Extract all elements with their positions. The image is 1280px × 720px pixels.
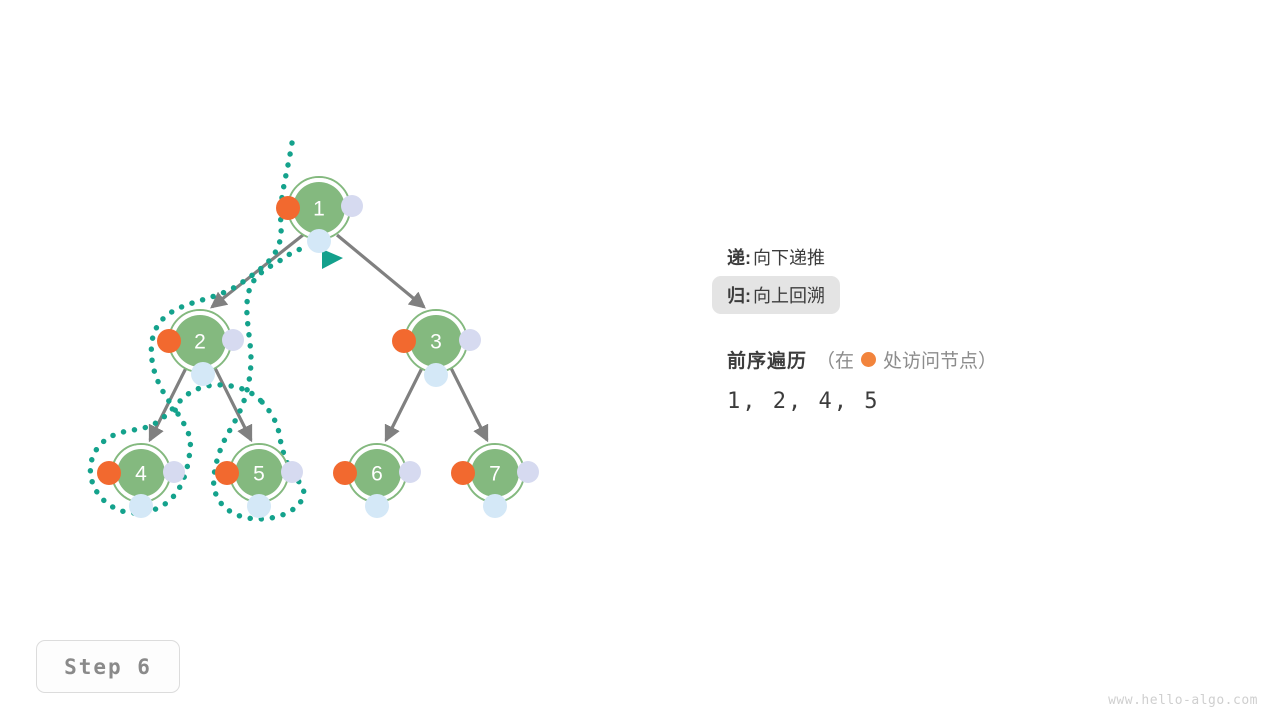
path-segment-node4-loop bbox=[90, 385, 262, 513]
traversal-note-close: 处访问节点） bbox=[883, 346, 997, 373]
node-right-dot bbox=[517, 461, 539, 483]
node-bottom-dot bbox=[483, 494, 507, 518]
legend-desc-recurse: 向下递推 bbox=[753, 244, 825, 270]
tree-node-2[interactable]: 2 bbox=[157, 310, 244, 386]
node-body bbox=[293, 182, 345, 234]
node-bottom-dot bbox=[365, 494, 389, 518]
tree-node-5[interactable]: 5 bbox=[215, 444, 303, 518]
node-right-dot bbox=[399, 461, 421, 483]
node-body bbox=[117, 449, 165, 497]
edge-2-5 bbox=[215, 368, 251, 440]
traversal-note-open: （在 bbox=[816, 346, 854, 373]
legend-row-recurse: 递: 向下递推 bbox=[727, 238, 1147, 276]
node-bottom-dot bbox=[307, 229, 331, 253]
traversal-result: 1, 2, 4, 5 bbox=[727, 389, 1147, 414]
node-bottom-dot bbox=[247, 494, 271, 518]
traversal-title: 前序遍历 bbox=[727, 346, 807, 373]
node-body bbox=[235, 449, 283, 497]
node-bottom-dot bbox=[424, 363, 448, 387]
edge-1-3 bbox=[337, 235, 424, 307]
visit-dot-icon bbox=[861, 352, 876, 367]
edge-2-4 bbox=[150, 368, 186, 440]
node-visit-dot bbox=[97, 461, 121, 485]
node-visit-dot bbox=[276, 196, 300, 220]
legend-panel: 递: 向下递推 归: 向上回溯 前序遍历 （在 处访问节点） 1, 2, 4, … bbox=[727, 238, 1147, 414]
node-right-dot bbox=[163, 461, 185, 483]
node-visit-dot bbox=[157, 329, 181, 353]
node-right-dot bbox=[281, 461, 303, 483]
node-body bbox=[174, 315, 226, 367]
node-visit-dot bbox=[451, 461, 475, 485]
watermark: www.hello-algo.com bbox=[1108, 693, 1258, 708]
node-body bbox=[353, 449, 401, 497]
traversal-title-row: 前序遍历 （在 处访问节点） bbox=[727, 346, 1147, 373]
node-right-dot bbox=[459, 329, 481, 351]
node-visit-dot bbox=[333, 461, 357, 485]
tree-node-6[interactable]: 6 bbox=[333, 444, 421, 518]
node-visit-dot bbox=[215, 461, 239, 485]
legend-highlight-wrapper: 归: 向上回溯 bbox=[727, 276, 1147, 314]
legend-desc-backtrack: 向上回溯 bbox=[753, 282, 825, 308]
edge-3-7 bbox=[451, 368, 487, 440]
edge-3-6 bbox=[386, 368, 422, 440]
edge-1-2 bbox=[212, 235, 303, 307]
legend-row-backtrack: 归: 向上回溯 bbox=[712, 276, 840, 314]
node-body bbox=[410, 315, 462, 367]
node-bottom-dot bbox=[129, 494, 153, 518]
node-body bbox=[471, 449, 519, 497]
tree-node-1[interactable]: 1 bbox=[276, 177, 363, 253]
node-right-dot bbox=[222, 329, 244, 351]
direction-marker-triangle bbox=[322, 249, 343, 269]
legend-tag-backtrack: 归: bbox=[727, 282, 751, 308]
path-segment-enter-root bbox=[151, 143, 292, 414]
node-right-dot bbox=[341, 195, 363, 217]
node-bottom-dot bbox=[191, 362, 215, 386]
tree-node-7[interactable]: 7 bbox=[451, 444, 539, 518]
node-visit-dot bbox=[392, 329, 416, 353]
tree-node-3[interactable]: 3 bbox=[392, 310, 481, 387]
legend-tag-recurse: 递: bbox=[727, 244, 751, 270]
step-badge: Step 6 bbox=[36, 640, 180, 693]
